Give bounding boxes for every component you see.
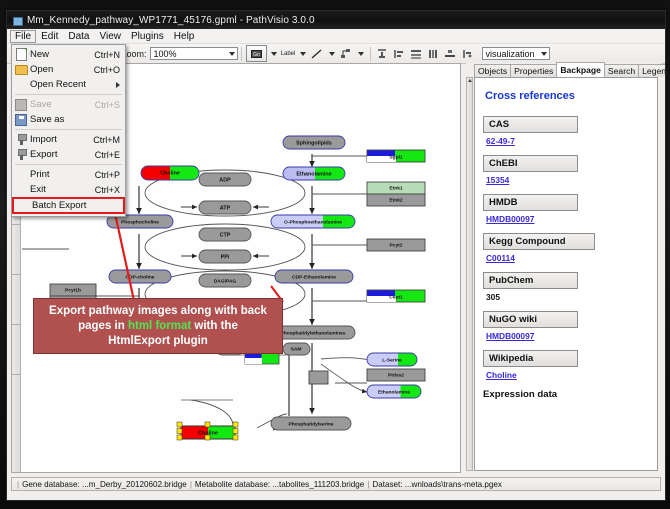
file-menu-shortcut-open: Ctrl+O xyxy=(94,65,125,75)
file-menu-item-print[interactable]: Print Ctrl+P xyxy=(12,167,125,182)
tab-properties[interactable]: Properties xyxy=(510,64,557,77)
node-sam[interactable]: SAM xyxy=(283,343,310,355)
node-chka-anchor[interactable] xyxy=(309,371,328,384)
annotation-line-2-post: with the xyxy=(191,320,238,332)
node-label: Choline xyxy=(160,170,180,176)
node-cdp-ethanolamine[interactable]: CDP-Ethanolamine xyxy=(275,270,353,283)
save-as-disk-icon xyxy=(12,113,30,126)
xref-value: HMDB00097 xyxy=(486,214,649,224)
stack-center-tool-button[interactable] xyxy=(443,46,458,61)
visualization-value: visualization xyxy=(486,49,535,59)
new-document-icon xyxy=(12,48,30,61)
xref-link-nugo[interactable]: HMDB00097 xyxy=(486,331,534,341)
menu-view[interactable]: View xyxy=(94,30,126,43)
window-titlebar: Mm_Kennedy_pathway_WP1771_45176.gpml - P… xyxy=(7,11,665,29)
interaction-tool-button[interactable] xyxy=(339,46,354,61)
node-label: L-Serine xyxy=(382,357,402,363)
node-label: DAG/PAG xyxy=(214,278,237,284)
xref-header: ChEBI xyxy=(483,155,578,172)
node-ctp[interactable]: CTP xyxy=(199,228,251,241)
file-menu-shortcut-import: Ctrl+M xyxy=(93,135,125,145)
menu-data[interactable]: Data xyxy=(63,30,94,43)
side-panel-tabs: Objects Properties Backpage Search Legen… xyxy=(466,63,661,77)
xref-value: Choline xyxy=(486,370,649,380)
file-menu-label-print: Print xyxy=(30,169,95,180)
file-menu-shortcut-new: Ctrl+N xyxy=(94,50,125,60)
node-adp[interactable]: ADP xyxy=(199,173,251,186)
node-cept1[interactable]: Cept1 xyxy=(367,290,425,302)
node-ethanolamine-bottom[interactable]: Ethanolamine xyxy=(367,385,421,398)
file-menu-separator xyxy=(15,94,122,95)
menu-file[interactable]: File xyxy=(10,30,36,43)
file-menu-label-new: New xyxy=(30,49,94,60)
node-dag-pag[interactable]: DAG/PAG xyxy=(199,274,251,287)
file-menu-item-new[interactable]: New Ctrl+N xyxy=(12,47,125,62)
toolbar-divider xyxy=(241,47,242,61)
submenu-arrow-icon xyxy=(116,82,120,88)
side-panel-scrollbar[interactable] xyxy=(466,77,473,471)
file-menu-separator-3 xyxy=(15,164,122,165)
line-dropdown-icon[interactable] xyxy=(329,52,335,56)
distribute-columns-tool-button[interactable] xyxy=(426,46,441,61)
file-menu-label-batch-export: Batch Export xyxy=(32,200,118,211)
node-label: CDP-Ethanolamine xyxy=(292,274,336,280)
interaction-dropdown-icon[interactable] xyxy=(358,52,364,56)
import-icon xyxy=(12,133,30,146)
window-title: Mm_Kennedy_pathway_WP1771_45176.gpml - P… xyxy=(27,15,315,26)
stack-center-icon xyxy=(444,48,456,60)
chevron-down-icon xyxy=(541,52,547,56)
tab-objects[interactable]: Objects xyxy=(474,64,511,77)
side-panel: Objects Properties Backpage Search Legen… xyxy=(466,63,661,473)
xref-block-wikipedia: Wikipedia Choline xyxy=(483,350,649,380)
node-etnk1[interactable]: Etnk1 xyxy=(367,182,425,194)
node-sphingolipids[interactable]: Sphingolipids xyxy=(283,136,345,149)
node-label: CDP-choline xyxy=(125,274,154,280)
align-left-tool-button[interactable] xyxy=(392,46,407,61)
node-pcyt1b[interactable]: Pcyt1b xyxy=(50,284,96,296)
line-tool-button[interactable] xyxy=(310,46,325,61)
node-label: Etnk1 xyxy=(389,185,403,191)
menubar: File Edit Data View Plugins Help xyxy=(7,29,665,44)
align-top-tool-button[interactable] xyxy=(375,46,390,61)
zoom-combobox[interactable]: 100% xyxy=(150,47,238,60)
node-label: PPi xyxy=(221,254,230,260)
node-label: Pcyt2 xyxy=(389,242,402,248)
datanode-dropdown-icon[interactable] xyxy=(271,52,277,56)
tab-legend[interactable]: Legend xyxy=(638,64,666,77)
scroll-up-icon[interactable] xyxy=(468,79,472,82)
file-menu-label-exit: Exit xyxy=(30,184,95,195)
file-menu-label-open-recent: Open Recent xyxy=(30,79,116,90)
node-etnk2[interactable]: Etnk2 xyxy=(367,194,425,206)
file-menu-shortcut-export: Ctrl+E xyxy=(95,150,125,160)
xref-link-cas[interactable]: 62-49-7 xyxy=(486,136,515,146)
pathvisio-window: Mm_Kennedy_pathway_WP1771_45176.gpml - P… xyxy=(6,10,666,501)
align-top-icon xyxy=(376,48,388,60)
status-metabolite-database: Metabolite database: ...tabolites_111203… xyxy=(195,480,364,489)
node-sgpl1[interactable]: Sgpl1 xyxy=(367,150,425,162)
node-atp[interactable]: ATP xyxy=(199,201,251,214)
geneproduct-icon: Gn xyxy=(251,50,262,58)
tab-search[interactable]: Search xyxy=(604,64,639,77)
file-menu-shortcut-print: Ctrl+P xyxy=(95,170,125,180)
xref-block-kegg: Kegg Compound C00114 xyxy=(483,233,649,263)
chevron-down-icon xyxy=(229,52,235,56)
annotation-line-2-highlight: html format xyxy=(128,320,191,332)
xref-header: HMDB xyxy=(483,194,578,211)
xref-value: C00114 xyxy=(486,253,649,263)
node-label: Sphingolipids xyxy=(296,140,332,146)
file-menu-item-batch-export[interactable]: Batch Export xyxy=(12,197,125,214)
file-menu-separator-2 xyxy=(15,129,122,130)
node-choline-bottom[interactable]: Choline xyxy=(177,422,238,440)
annotation-callout: Export pathway images along with back pa… xyxy=(33,298,283,354)
file-menu-item-open[interactable]: Open Ctrl+O xyxy=(12,62,125,77)
xref-value: 15354 xyxy=(486,175,649,185)
status-dataset: Dataset: ...wnloads\trans-meta.pgex xyxy=(372,480,502,489)
node-label: Ethanolamine xyxy=(378,389,410,395)
xref-value: 305 xyxy=(486,292,649,302)
xref-link-chebi[interactable]: 15354 xyxy=(486,175,509,185)
statusbar: | Gene database: ...m_Derby_20120602.bri… xyxy=(11,477,661,491)
annotation-line-3: HtmlExport plugin xyxy=(108,335,208,347)
node-label: Pcyt1b xyxy=(65,287,81,293)
distribute-rows-tool-button[interactable] xyxy=(409,46,424,61)
desktop-backdrop: Mm_Kennedy_pathway_WP1771_45176.gpml - P… xyxy=(0,0,670,509)
file-menu-label-export: Export xyxy=(30,149,95,160)
node-choline-top[interactable]: Choline xyxy=(141,166,199,180)
node-label: Ptdss2 xyxy=(388,372,404,378)
xref-link-hmdb[interactable]: HMDB00097 xyxy=(486,214,534,224)
label-tool-text: Label xyxy=(281,51,296,57)
toolbar-divider-2 xyxy=(370,47,371,61)
node-cdp-choline[interactable]: CDP-choline xyxy=(109,270,171,283)
node-label: SAM xyxy=(291,346,302,352)
export-icon xyxy=(12,148,30,161)
distribute-columns-icon xyxy=(427,48,439,60)
node-label: ATP xyxy=(220,205,231,211)
xref-value: 62-49-7 xyxy=(486,136,649,146)
xref-block-hmdb: HMDB HMDB00097 xyxy=(483,194,649,224)
node-phosphatidylserine[interactable]: Phosphatidylserine xyxy=(271,417,351,430)
xref-block-chebi: ChEBI 15354 xyxy=(483,155,649,185)
node-pemt-anchor[interactable] xyxy=(245,353,279,364)
node-label: Ethanolamine xyxy=(296,171,331,177)
open-folder-icon xyxy=(12,63,30,76)
node-phosphatidylethanolamines[interactable]: Phosphatidylethanolamines xyxy=(271,326,355,339)
node-label: O-Phosphoethanolamine xyxy=(284,219,342,225)
file-menu-item-exit[interactable]: Exit Ctrl+X xyxy=(12,182,125,197)
annotation-line-2-pre: pages in xyxy=(78,320,128,332)
node-o-phosphoethanolamine[interactable]: O-Phosphoethanolamine xyxy=(271,215,355,228)
node-ethanolamine-top[interactable]: Ethanolamine xyxy=(283,167,345,180)
file-menu-label-save: Save xyxy=(30,99,95,110)
node-ppi[interactable]: PPi xyxy=(199,250,251,263)
menu-edit[interactable]: Edit xyxy=(36,30,63,43)
node-label: Sgpl1 xyxy=(389,154,403,160)
xref-link-wikipedia[interactable]: Choline xyxy=(486,370,517,380)
node-l-serine[interactable]: L-Serine xyxy=(367,353,417,366)
node-label: Cept1 xyxy=(389,294,403,300)
xref-header: Wikipedia xyxy=(483,350,578,367)
xref-header: Kegg Compound xyxy=(483,233,595,250)
file-menu-shortcut-exit: Ctrl+X xyxy=(95,185,125,195)
expression-data-title: Expression data xyxy=(483,389,649,400)
align-right-tool-button[interactable] xyxy=(460,46,475,61)
xref-header: NuGO wiki xyxy=(483,311,578,328)
zoom-value: 100% xyxy=(154,49,177,59)
backpage-content: Cross references CAS 62-49-7 ChEBI 15354… xyxy=(474,77,658,471)
xref-block-pubchem: PubChem 305 xyxy=(483,272,649,302)
node-label: Phosphatidylserine xyxy=(288,421,333,427)
file-menu-shortcut-save: Ctrl+S xyxy=(95,100,125,110)
file-menu-item-import[interactable]: Import Ctrl+M xyxy=(12,132,125,147)
datanode-tool-button[interactable]: Gn xyxy=(246,45,267,62)
node-label: Phosphocholine xyxy=(121,219,159,225)
file-menu-item-save-as[interactable]: Save as xyxy=(12,112,125,127)
pathvisio-app-icon xyxy=(12,15,23,26)
node-ptdss2[interactable]: Ptdss2 xyxy=(367,369,425,381)
menu-help[interactable]: Help xyxy=(169,30,200,43)
annotation-line-1: Export pathway images along with back xyxy=(49,305,267,317)
node-label: ADP xyxy=(219,177,231,183)
status-gene-database: Gene database: ...m_Derby_20120602.bridg… xyxy=(22,480,187,489)
xref-header: CAS xyxy=(483,116,578,133)
xref-block-nugo: NuGO wiki HMDB00097 xyxy=(483,311,649,341)
node-label: Phosphatidylethanolamines xyxy=(281,330,346,336)
xref-block-cas: CAS 62-49-7 xyxy=(483,116,649,146)
xref-header: PubChem xyxy=(483,272,578,289)
node-pcyt2[interactable]: Pcyt2 xyxy=(367,239,425,251)
menu-plugins[interactable]: Plugins xyxy=(126,30,169,43)
line-icon xyxy=(311,48,323,60)
file-menu-label-save-as: Save as xyxy=(30,114,120,125)
align-left-icon xyxy=(393,48,405,60)
save-disk-icon xyxy=(12,98,30,111)
label-dropdown-icon[interactable] xyxy=(300,52,306,56)
file-menu-item-open-recent[interactable]: Open Recent xyxy=(12,77,125,92)
xref-link-kegg[interactable]: C00114 xyxy=(486,253,515,263)
file-menu-label-import: Import xyxy=(30,134,93,145)
node-label: Etnk2 xyxy=(389,197,403,203)
distribute-rows-icon xyxy=(410,48,422,60)
svg-text:Gn: Gn xyxy=(253,52,260,58)
xref-value: HMDB00097 xyxy=(486,331,649,341)
align-right-icon xyxy=(461,48,473,60)
label-tool-button[interactable]: Label xyxy=(281,46,296,61)
visualization-combobox[interactable]: visualization xyxy=(482,47,550,60)
annotation-text: Export pathway images along with back pa… xyxy=(44,304,272,349)
cross-references-title: Cross references xyxy=(485,90,649,102)
interaction-icon xyxy=(340,48,352,60)
tab-backpage[interactable]: Backpage xyxy=(556,62,605,77)
file-menu-item-save[interactable]: Save Ctrl+S xyxy=(12,97,125,112)
file-menu-dropdown: New Ctrl+N Open Ctrl+O Open Recent Save … xyxy=(11,44,126,217)
node-label: CTP xyxy=(220,232,231,238)
file-menu-label-open: Open xyxy=(30,64,94,75)
file-menu-item-export[interactable]: Export Ctrl+E xyxy=(12,147,125,162)
